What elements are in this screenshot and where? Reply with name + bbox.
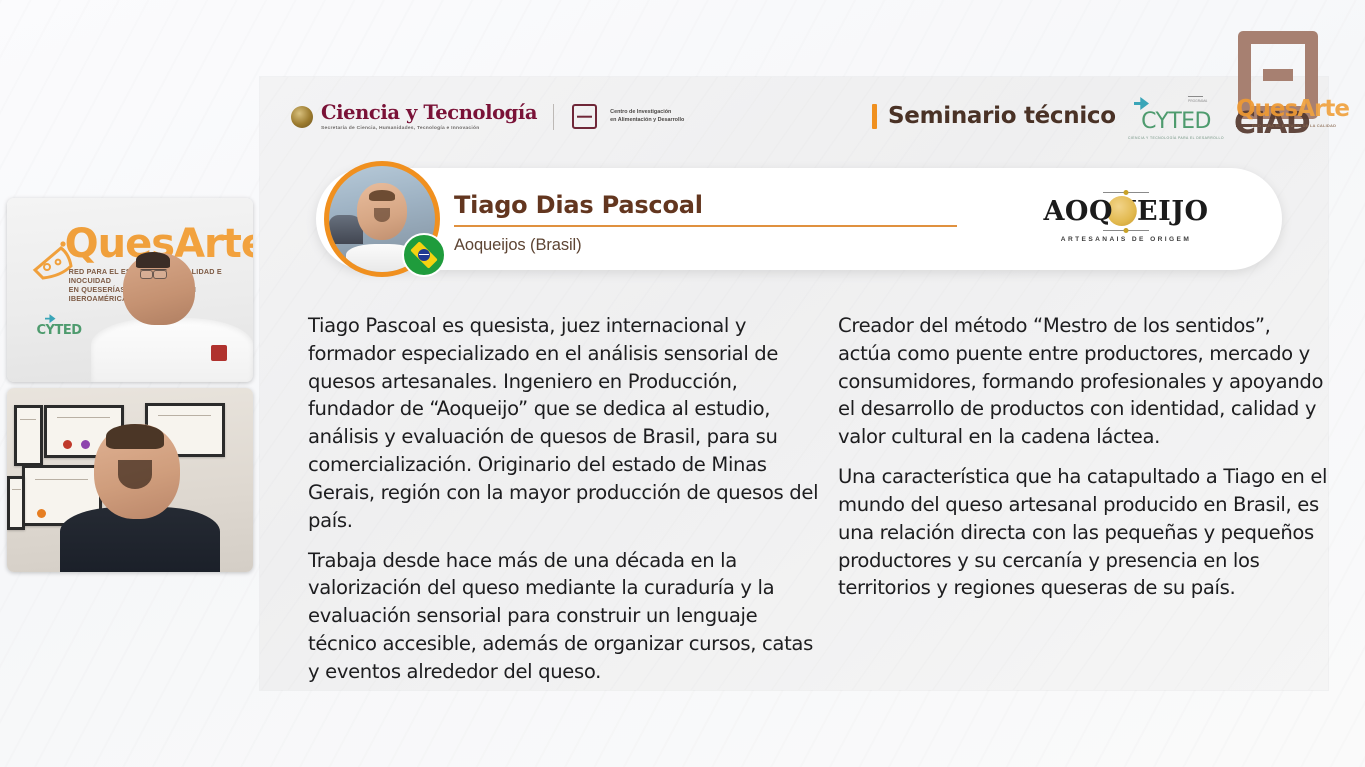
speaker-info: Tiago Dias Pascoal Aoqueijos (Brasil)	[454, 193, 954, 255]
aoqueijo-brand-logo: AOQUEIJO ARTESANAIS DE ORIGEM	[1028, 192, 1224, 243]
certificate-frame	[7, 476, 25, 530]
quesarte-overlay-arte: Arte	[1297, 96, 1349, 122]
certificate-seal	[37, 509, 46, 518]
speaker-name: Tiago Dias Pascoal	[454, 193, 954, 218]
speaker-video-figure	[71, 417, 209, 572]
speaker-organization: Aoqueijos (Brasil)	[454, 236, 954, 255]
cyted-note-line1: PROGRAMA	[1188, 99, 1207, 103]
video-call-screen: QuesArte RED PARA EL ESTUDIO DE LA CALID…	[0, 0, 1365, 767]
moderator-head	[123, 253, 194, 325]
aoqueijo-wordmark: AOQUEIJO	[1043, 198, 1208, 225]
quesarte-overlay-tagline: RED PARA EL ESTUDIO DE LA CALIDAD	[1252, 124, 1336, 129]
cyted-wordmark: CYTED	[1128, 111, 1224, 133]
cyted-program-note: PROGRAMA	[1188, 99, 1207, 104]
avatar-head	[357, 183, 408, 240]
seminar-title-block: Seminario técnico	[872, 103, 1116, 129]
quesarte-overlay-wordmark: QuesArte	[1236, 98, 1349, 121]
participant-tile-rail: QuesArte RED PARA EL ESTUDIO DE LA CALID…	[7, 198, 253, 578]
certificate-frame	[14, 405, 42, 466]
bio-paragraph: Tiago Pascoal es quesista, juez internac…	[308, 312, 823, 535]
aoqueijo-tagline: ARTESANAIS DE ORIGEM	[1028, 236, 1224, 243]
bio-paragraph: Trabaja desde hace más de una década en …	[308, 547, 823, 686]
ciad-quesarte-corner-logo: CIAD QuesArte RED PARA EL ESTUDIO DE LA …	[1232, 31, 1326, 147]
cyted-logo: PROGRAMA CYTED CIENCIA Y TECNOLOGÍA PARA…	[1128, 97, 1224, 140]
participant-tile-moderator[interactable]: QuesArte RED PARA EL ESTUDIO DE LA CALID…	[7, 198, 253, 382]
speaker-hair	[106, 424, 164, 449]
ciad-mark-icon	[572, 104, 597, 129]
moderator-hair	[136, 252, 170, 268]
aoqueijo-prefix: AO	[1043, 196, 1088, 227]
flag-globe	[418, 249, 430, 261]
glasses-icon	[140, 269, 167, 276]
bio-column-right: Creador del método “Mestro de los sentid…	[838, 312, 1328, 602]
gob-subtitle: Secretaría de Ciencia, Humanidades, Tecn…	[321, 126, 537, 131]
avatar-beard	[374, 208, 390, 222]
speaker-head	[94, 424, 179, 520]
avatar	[324, 161, 440, 277]
ciad-line-1: Centro de Investigación	[610, 109, 684, 117]
mexican-eagle-seal-icon	[291, 106, 313, 128]
participant-tile-speaker[interactable]	[7, 388, 253, 572]
moderator-shirt	[91, 318, 253, 382]
moderator-video-figure	[91, 253, 253, 382]
ciad-line-2: en Alimentación y Desarrollo	[610, 117, 684, 125]
cyted-tagline: CIENCIA Y TECNOLOGÍA PARA EL DESARROLLO	[1128, 136, 1224, 140]
brazil-flag-icon	[402, 233, 446, 277]
accent-bar	[872, 104, 877, 129]
gobierno-ciencia-tecnologia-logo: Ciencia y Tecnología Secretaría de Cienc…	[291, 103, 684, 131]
backdrop-cyted-logo: CYTED	[37, 323, 82, 338]
speaker-beard	[118, 460, 152, 489]
cheese-wedge-icon	[31, 240, 77, 282]
avatar-hair	[369, 190, 395, 201]
bio-column-left: Tiago Pascoal es quesista, juez internac…	[308, 312, 823, 686]
seminar-title: Seminario técnico	[888, 103, 1116, 129]
logo-divider	[553, 104, 554, 130]
speaker-divider	[454, 225, 957, 226]
speaker-card: Tiago Dias Pascoal Aoqueijos (Brasil) AO…	[316, 168, 1282, 270]
slide-header: Ciencia y Tecnología Secretaría de Cienc…	[260, 77, 1328, 149]
logo-top-ornament	[1103, 192, 1149, 193]
gob-title: Ciencia y Tecnología	[321, 103, 537, 123]
bio-paragraph: Creador del método “Mestro de los sentid…	[838, 312, 1328, 451]
bio-paragraph: Una característica que ha catapultado a …	[838, 463, 1328, 602]
logo-bottom-ornament	[1103, 230, 1149, 231]
shared-presentation-slide[interactable]: Ciencia y Tecnología Secretaría de Cienc…	[260, 77, 1328, 690]
quesarte-overlay-ques: Ques	[1236, 96, 1297, 122]
aoqueijo-q: Q	[1089, 196, 1113, 227]
